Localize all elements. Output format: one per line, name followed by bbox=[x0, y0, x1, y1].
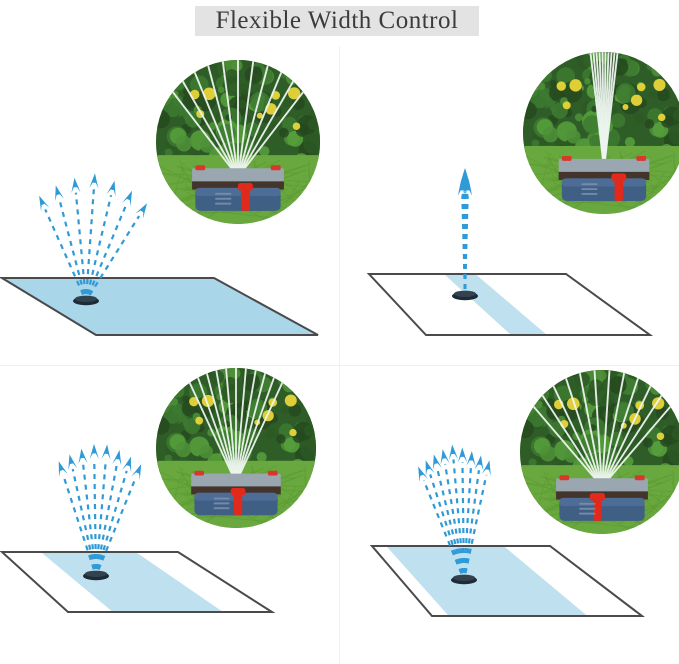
sprinkler-unit bbox=[556, 475, 648, 521]
sprinkler-nozzle-base bbox=[452, 291, 478, 301]
photo-inset-wide bbox=[156, 60, 320, 224]
photo-inset-medium bbox=[156, 368, 316, 528]
sprinkler-unit bbox=[192, 165, 284, 211]
spray-arrow bbox=[462, 177, 471, 289]
coverage-band bbox=[444, 274, 547, 335]
page-title: Flexible Width Control bbox=[216, 6, 459, 36]
spray-arrow bbox=[459, 177, 468, 289]
photo-inset-wide-band bbox=[520, 370, 679, 534]
panel-wide-band-spray bbox=[340, 366, 679, 664]
page-title-band: Flexible Width Control bbox=[195, 6, 479, 36]
spray-arrow bbox=[90, 444, 99, 569]
panel-narrow-spray bbox=[340, 46, 679, 365]
sprinkler-nozzle-base bbox=[83, 571, 109, 581]
sprinkler-unit bbox=[191, 471, 281, 515]
coverage-band bbox=[386, 546, 587, 616]
panel-medium-spray bbox=[0, 366, 339, 664]
spray-arrow bbox=[71, 178, 85, 294]
photo-inset-narrow bbox=[523, 52, 679, 214]
sprinkler-nozzle-base bbox=[73, 296, 99, 306]
panel-wide-spray bbox=[0, 46, 339, 365]
coverage-band bbox=[41, 552, 223, 612]
infographic-canvas: Flexible Width Control bbox=[0, 0, 679, 664]
sprinkler-nozzle-base bbox=[451, 575, 477, 585]
ground-plane bbox=[2, 278, 318, 335]
sprinkler-unit bbox=[559, 156, 650, 201]
